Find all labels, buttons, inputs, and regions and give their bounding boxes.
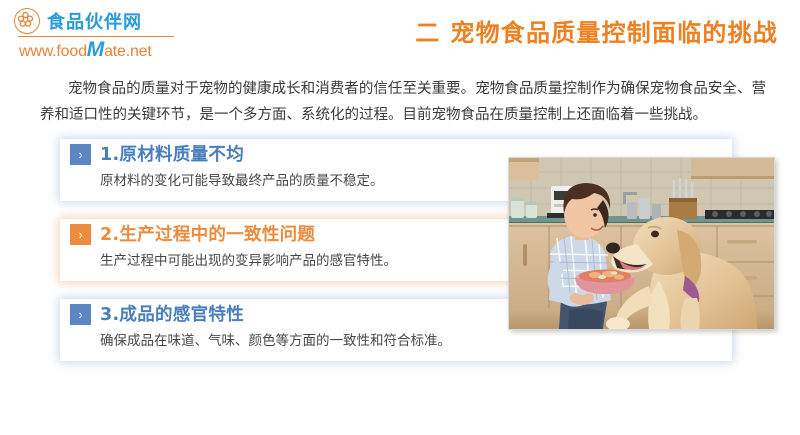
chevron-right-icon: › xyxy=(70,224,91,245)
card-description: 原材料的变化可能导致最终产品的质量不稳定。 xyxy=(100,169,384,189)
page-title: 二宠物食品质量控制面临的挑战 xyxy=(415,13,778,48)
kitchen-dog-photo xyxy=(508,157,775,330)
page-header: 食品伙伴网 www.foodMate.net 二宠物食品质量控制面临的挑战 xyxy=(0,0,800,62)
logo-divider xyxy=(18,36,174,37)
logo-url-prefix: www.food xyxy=(19,43,87,60)
page-title-numeral: 二 xyxy=(415,19,440,47)
logo-url-suffix: ate.net xyxy=(104,43,152,60)
chevron-right-icon: › xyxy=(70,304,91,325)
card-title: 1.原材料质量不均 xyxy=(100,141,244,166)
card-description: 生产过程中可能出现的变异影响产品的感官特性。 xyxy=(100,249,397,269)
logo-chinese-name: 食品伙伴网 xyxy=(47,8,142,34)
card-description: 确保成品在味道、气味、颜色等方面的一致性和符合标准。 xyxy=(100,329,451,349)
logo-top-row: 食品伙伴网 xyxy=(14,8,179,34)
flower-emblem-icon xyxy=(14,8,40,34)
intro-text: 宠物食品的质量对于宠物的健康成长和消费者的信任至关重要。宠物食品质量控制作为确保… xyxy=(40,81,766,123)
card-title: 3.成品的感官特性 xyxy=(100,301,244,326)
site-logo[interactable]: 食品伙伴网 www.foodMate.net xyxy=(14,8,179,56)
card-title: 2.生产过程中的一致性问题 xyxy=(100,221,315,246)
intro-paragraph: 宠物食品的质量对于宠物的健康成长和消费者的信任至关重要。宠物食品质量控制作为确保… xyxy=(40,76,766,128)
logo-url: www.foodMate.net xyxy=(19,38,179,62)
logo-url-m: M xyxy=(87,38,104,61)
page-title-text: 宠物食品质量控制面临的挑战 xyxy=(450,19,778,47)
chevron-right-icon: › xyxy=(70,144,91,165)
